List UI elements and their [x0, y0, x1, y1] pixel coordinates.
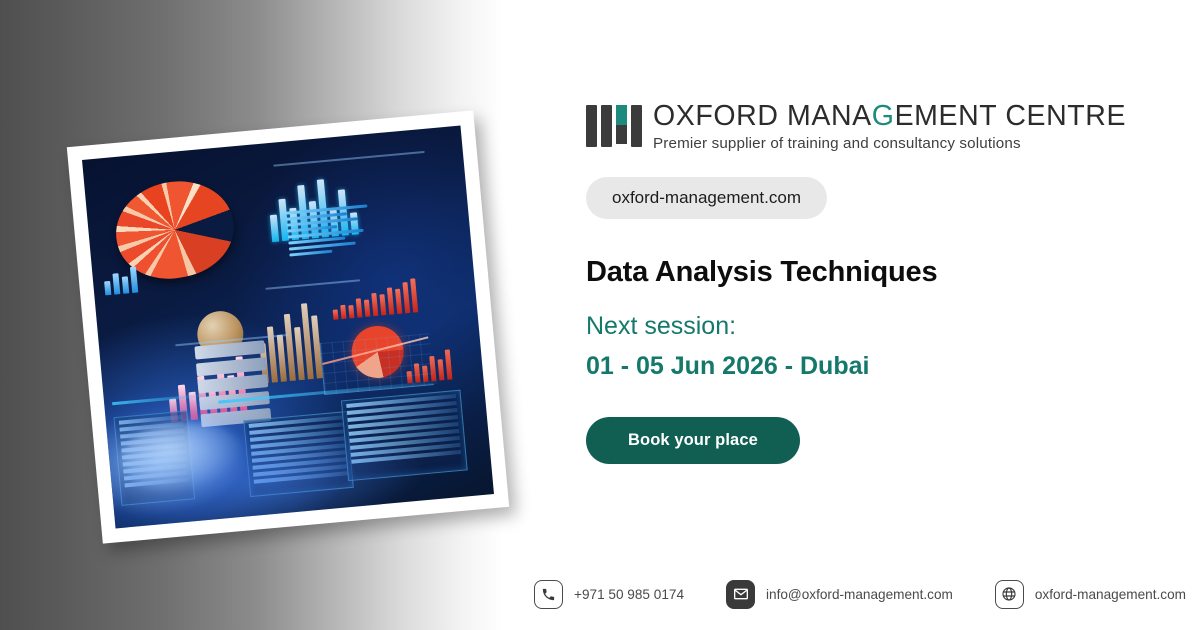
footer-contact-bar: +971 50 985 0174 info@oxford-management.…: [0, 558, 1200, 630]
course-title: Data Analysis Techniques: [586, 256, 937, 289]
promo-banner: OXFORD MANAGEMENT CENTRE Premier supplie…: [0, 0, 1200, 630]
phone-icon: [534, 580, 563, 609]
footer-phone[interactable]: +971 50 985 0174: [534, 580, 684, 609]
next-session-date: 01 - 05 Jun 2026 - Dubai: [586, 352, 869, 381]
hero-photo-frame: [67, 110, 509, 543]
footer-phone-text: +971 50 985 0174: [574, 587, 684, 602]
oxford-bars-logo-icon: [586, 105, 642, 147]
footer-email[interactable]: info@oxford-management.com: [726, 580, 953, 609]
brand-name-accent: G: [872, 100, 895, 132]
brand-name-part2: EMENT CENTRE: [895, 100, 1127, 132]
email-icon: [726, 580, 755, 609]
footer-website[interactable]: oxford-management.com: [995, 580, 1186, 609]
brand-tagline: Premier supplier of training and consult…: [653, 135, 1126, 152]
chart-legend-lines: [285, 203, 385, 260]
right-content-panel: OXFORD MANAGEMENT CENTRE Premier supplie…: [540, 0, 1200, 630]
hand-photo-element: [82, 367, 432, 528]
brand-text: OXFORD MANAGEMENT CENTRE Premier supplie…: [653, 100, 1126, 152]
hero-photo-image: [82, 126, 494, 529]
book-your-place-button[interactable]: Book your place: [586, 417, 800, 464]
chart-bars-small-blue: [103, 267, 138, 296]
website-url-pill[interactable]: oxford-management.com: [586, 177, 827, 219]
footer-website-text: oxford-management.com: [1035, 587, 1186, 602]
footer-email-text: info@oxford-management.com: [766, 587, 953, 602]
chart-caption-1: [273, 151, 425, 167]
brand-name: OXFORD MANAGEMENT CENTRE: [653, 100, 1126, 133]
brand-logo[interactable]: OXFORD MANAGEMENT CENTRE Premier supplie…: [586, 100, 1126, 152]
chart-bars-red: [330, 278, 418, 320]
brand-name-part1: OXFORD MANA: [653, 100, 872, 132]
globe-icon: [995, 580, 1024, 609]
left-visual-panel: [0, 0, 540, 630]
next-session-label: Next session:: [586, 312, 736, 341]
